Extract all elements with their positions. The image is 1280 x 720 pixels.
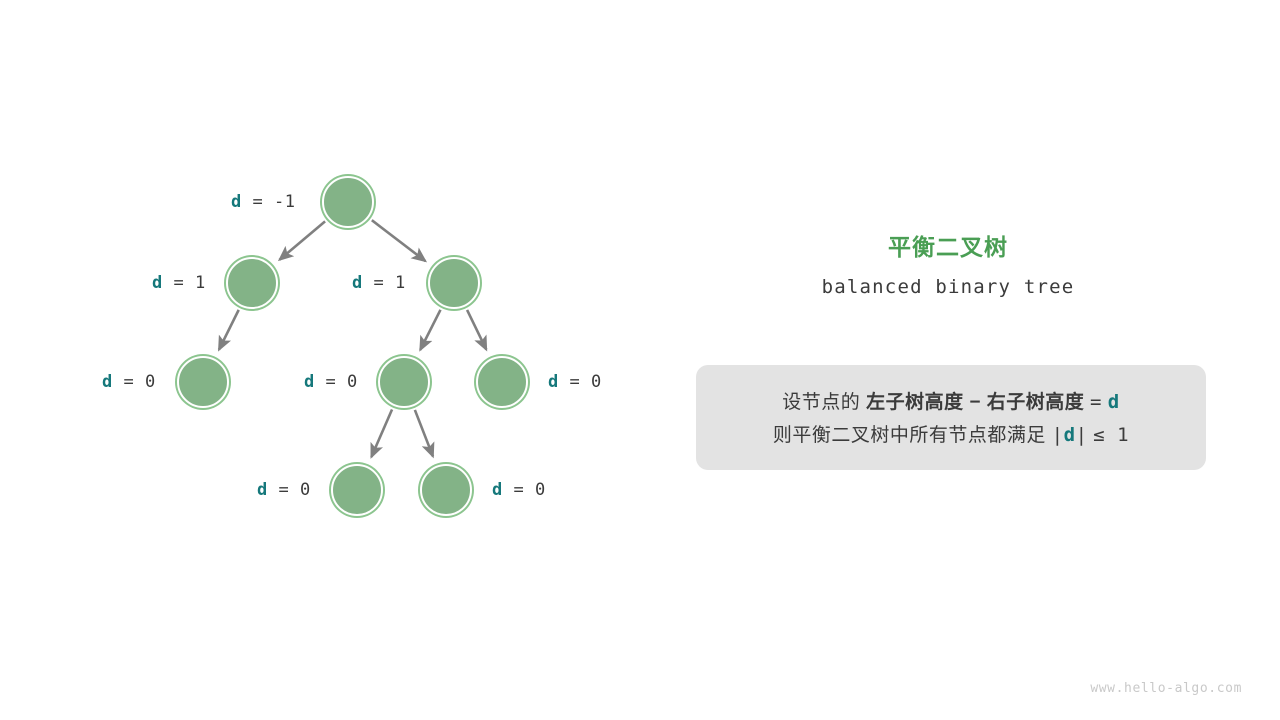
formula-line2-abs-open: | [1052, 424, 1064, 446]
node-balance-label: d = 1 [352, 273, 406, 293]
node-balance-label: d = -1 [231, 192, 295, 212]
tree-node [177, 356, 229, 408]
tree-node [322, 176, 374, 228]
node-label-variable: d [352, 273, 363, 293]
node-label-value: = 1 [163, 273, 206, 293]
node-label-variable: d [548, 372, 559, 392]
watermark: www.hello-algo.com [1090, 681, 1242, 696]
tree-node [420, 464, 472, 516]
info-panel: 平衡二叉树 balanced binary tree 设节点的 左子树高度 − … [660, 0, 1280, 720]
tree-edge [280, 221, 326, 259]
tree-node [226, 257, 278, 309]
node-balance-label: d = 0 [102, 372, 156, 392]
formula-line2-abs-close: | [1076, 424, 1088, 446]
node-label-value: = 0 [113, 372, 156, 392]
node-label-variable: d [257, 480, 268, 500]
tree-edge [467, 310, 486, 350]
formula-line2-condition: ≤ 1 [1093, 424, 1129, 446]
formula-line1-strong: 左子树高度 − 右子树高度 [866, 392, 1084, 413]
node-balance-label: d = 0 [492, 480, 546, 500]
tree-edge [415, 410, 433, 456]
node-label-variable: d [304, 372, 315, 392]
panel-subtitle: balanced binary tree [660, 276, 1236, 298]
formula-line2-prefix: 则平衡二叉树中所有节点都满足 [773, 425, 1046, 446]
formula-line2-variable: d [1064, 424, 1076, 446]
node-label-value: = 1 [363, 273, 406, 293]
panel-title: 平衡二叉树 [660, 228, 1236, 262]
formula-line-2: 则平衡二叉树中所有节点都满足 |d| ≤ 1 [696, 419, 1206, 452]
node-label-value: = 0 [503, 480, 546, 500]
node-label-value: = 0 [315, 372, 358, 392]
node-balance-label: d = 0 [304, 372, 358, 392]
node-label-variable: d [492, 480, 503, 500]
formula-line1-prefix: 设节点的 [782, 392, 860, 413]
diagram-canvas: d = -1d = 1d = 1d = 0d = 0d = 0d = 0d = … [0, 0, 1280, 720]
node-balance-label: d = 1 [152, 273, 206, 293]
node-label-value: = 0 [268, 480, 311, 500]
node-label-value: = -1 [242, 192, 296, 212]
tree-node [476, 356, 528, 408]
node-label-variable: d [102, 372, 113, 392]
tree-node [331, 464, 383, 516]
tree-node [378, 356, 430, 408]
formula-line1-variable: d [1108, 391, 1120, 413]
formula-line1-equals: = [1090, 391, 1102, 413]
tree-edge [371, 410, 392, 457]
tree-edge-group [219, 220, 486, 457]
node-label-variable: d [152, 273, 163, 293]
tree-edges-layer [0, 0, 660, 720]
tree-node [428, 257, 480, 309]
formula-line-1: 设节点的 左子树高度 − 右子树高度 = d [696, 386, 1206, 419]
node-balance-label: d = 0 [257, 480, 311, 500]
node-balance-label: d = 0 [548, 372, 602, 392]
tree-edge [420, 310, 440, 350]
tree-edge [219, 310, 239, 350]
tree-edge [372, 220, 426, 261]
node-label-value: = 0 [559, 372, 602, 392]
node-label-variable: d [231, 192, 242, 212]
binary-tree-diagram: d = -1d = 1d = 1d = 0d = 0d = 0d = 0d = … [0, 0, 660, 720]
formula-box: 设节点的 左子树高度 − 右子树高度 = d 则平衡二叉树中所有节点都满足 |d… [696, 365, 1206, 470]
